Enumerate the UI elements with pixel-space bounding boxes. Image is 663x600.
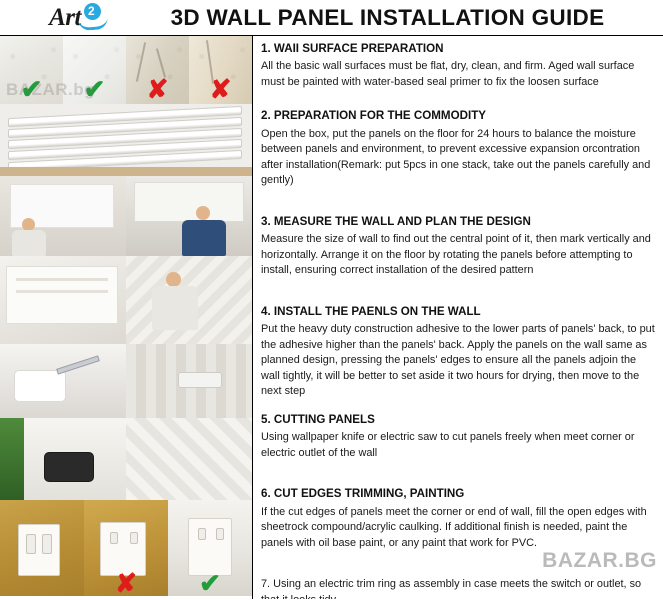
check-icon: ✔ <box>168 570 252 596</box>
step-4-title: 4. INSTALL THE PAENLS ON THE WALL <box>261 305 655 319</box>
outlet-photo-bad-2: ✘ <box>84 500 168 596</box>
worker-head <box>196 206 210 220</box>
step-6: 6. CUT EDGES TRIMMING, PAINTING If the c… <box>261 487 655 551</box>
painting-photo <box>126 418 252 500</box>
caulking-photo <box>0 418 126 500</box>
floor-strip <box>0 167 252 176</box>
apply-panel-photo <box>0 176 126 256</box>
adhesive-application-photo <box>0 256 126 344</box>
electric-saw-photo <box>126 344 252 418</box>
cross-icon: ✘ <box>84 570 168 596</box>
step-6-title: 6. CUT EDGES TRIMMING, PAINTING <box>261 487 655 501</box>
panel-shape <box>6 266 118 324</box>
step-2: 2. PREPARATION FOR THE COMMODITY Open th… <box>261 109 655 188</box>
check-icon: ✔ <box>0 76 63 102</box>
step-2-body: Open the box, put the panels on the floo… <box>261 127 655 189</box>
trimming-painting-photo-row <box>0 418 252 500</box>
brand-logo-swoosh-icon <box>78 17 109 31</box>
panel-stack-illustration <box>0 104 252 176</box>
outlet-socket <box>110 532 118 544</box>
step-7: 7. Using an electric trim ring as assemb… <box>261 577 655 599</box>
step-3: 3. MEASURE THE WALL AND PLAN THE DESIGN … <box>261 215 655 279</box>
stacked-panels-photo-row <box>0 104 252 176</box>
check-icon: ✔ <box>63 76 126 102</box>
grass-edge <box>0 418 24 500</box>
panel-pattern <box>126 418 252 500</box>
watermark-bottom-right: BAZAR.BG <box>542 549 657 573</box>
step-3-body: Measure the size of wall to find out the… <box>261 232 655 278</box>
panel-shape <box>134 182 244 222</box>
worker-body <box>12 230 46 256</box>
step-5: 5. CUTTING PANELS Using wallpaper knife … <box>261 413 655 461</box>
outlet-photo-good: ✔ <box>168 500 252 596</box>
switch-toggle <box>42 534 52 554</box>
stacked-panels-photo <box>0 104 252 176</box>
measure-wall-photo-row <box>0 176 252 256</box>
install-panels-photo-row <box>0 256 252 344</box>
wall-sample-good-2: ✔ <box>63 36 126 104</box>
switch-toggle <box>26 534 36 554</box>
wall-sample-good-1: ✔ <box>0 36 63 104</box>
knife-cutting-photo <box>0 344 126 418</box>
step-5-title: 5. CUTTING PANELS <box>261 413 655 427</box>
switch-plate <box>18 524 60 576</box>
outlet-trim-photo-row: ✘ ✔ <box>0 500 252 596</box>
page-header: Art 2 3D WALL PANEL INSTALLATION GUIDE <box>0 0 663 36</box>
press-panel-photo <box>126 176 252 256</box>
outlet-socket <box>130 532 138 544</box>
gloved-hand <box>44 452 94 482</box>
step-4: 4. INSTALL THE PAENLS ON THE WALL Put th… <box>261 305 655 400</box>
cross-icon: ✘ <box>126 76 189 102</box>
outlet-socket <box>198 528 206 540</box>
electric-saw-icon <box>178 372 222 388</box>
step-1: 1. WAII SURFACE PREPARATION All the basi… <box>261 42 655 90</box>
step-5-body: Using wallpaper knife or electric saw to… <box>261 430 655 461</box>
step-7-body: 7. Using an electric trim ring as assemb… <box>261 577 655 599</box>
wall-sample-bad-1: ✘ <box>126 36 189 104</box>
worker-head <box>166 272 181 287</box>
step-6-body: If the cut edges of panels meet the corn… <box>261 505 655 551</box>
outlet-socket <box>216 528 224 540</box>
brand-logo: Art 2 <box>0 0 130 35</box>
illustration-column: ✔ ✔ ✘ ✘ <box>0 36 252 599</box>
cutting-panels-photo-row <box>0 344 252 418</box>
page-title: 3D WALL PANEL INSTALLATION GUIDE <box>130 5 663 31</box>
step-1-title: 1. WAII SURFACE PREPARATION <box>261 42 655 56</box>
step-4-body: Put the heavy duty construction adhesive… <box>261 322 655 399</box>
step-1-body: All the basic wall surfaces must be flat… <box>261 59 655 90</box>
wall-sample-bad-2: ✘ <box>189 36 252 104</box>
adhesive-bead <box>16 278 108 281</box>
brand-logo-text: Art <box>49 4 81 32</box>
outlet-photo-bad-1 <box>0 500 84 596</box>
installation-guide-page: Art 2 3D WALL PANEL INSTALLATION GUIDE ✔… <box>0 0 663 600</box>
worker-body <box>152 286 198 330</box>
page-body: ✔ ✔ ✘ ✘ <box>0 36 663 599</box>
gloved-hand <box>14 370 66 402</box>
cross-icon: ✘ <box>189 76 252 102</box>
panel-wall-install-photo <box>126 256 252 344</box>
adhesive-bead <box>16 290 108 293</box>
brand-logo-badge-text: 2 <box>88 4 95 18</box>
wall-surface-samples-row: ✔ ✔ ✘ ✘ <box>0 36 252 104</box>
step-3-title: 3. MEASURE THE WALL AND PLAN THE DESIGN <box>261 215 655 229</box>
worker-body <box>182 220 226 256</box>
utility-knife-icon <box>56 355 100 374</box>
step-2-title: 2. PREPARATION FOR THE COMMODITY <box>261 109 655 123</box>
instructions-column: 1. WAII SURFACE PREPARATION All the basi… <box>252 36 663 599</box>
